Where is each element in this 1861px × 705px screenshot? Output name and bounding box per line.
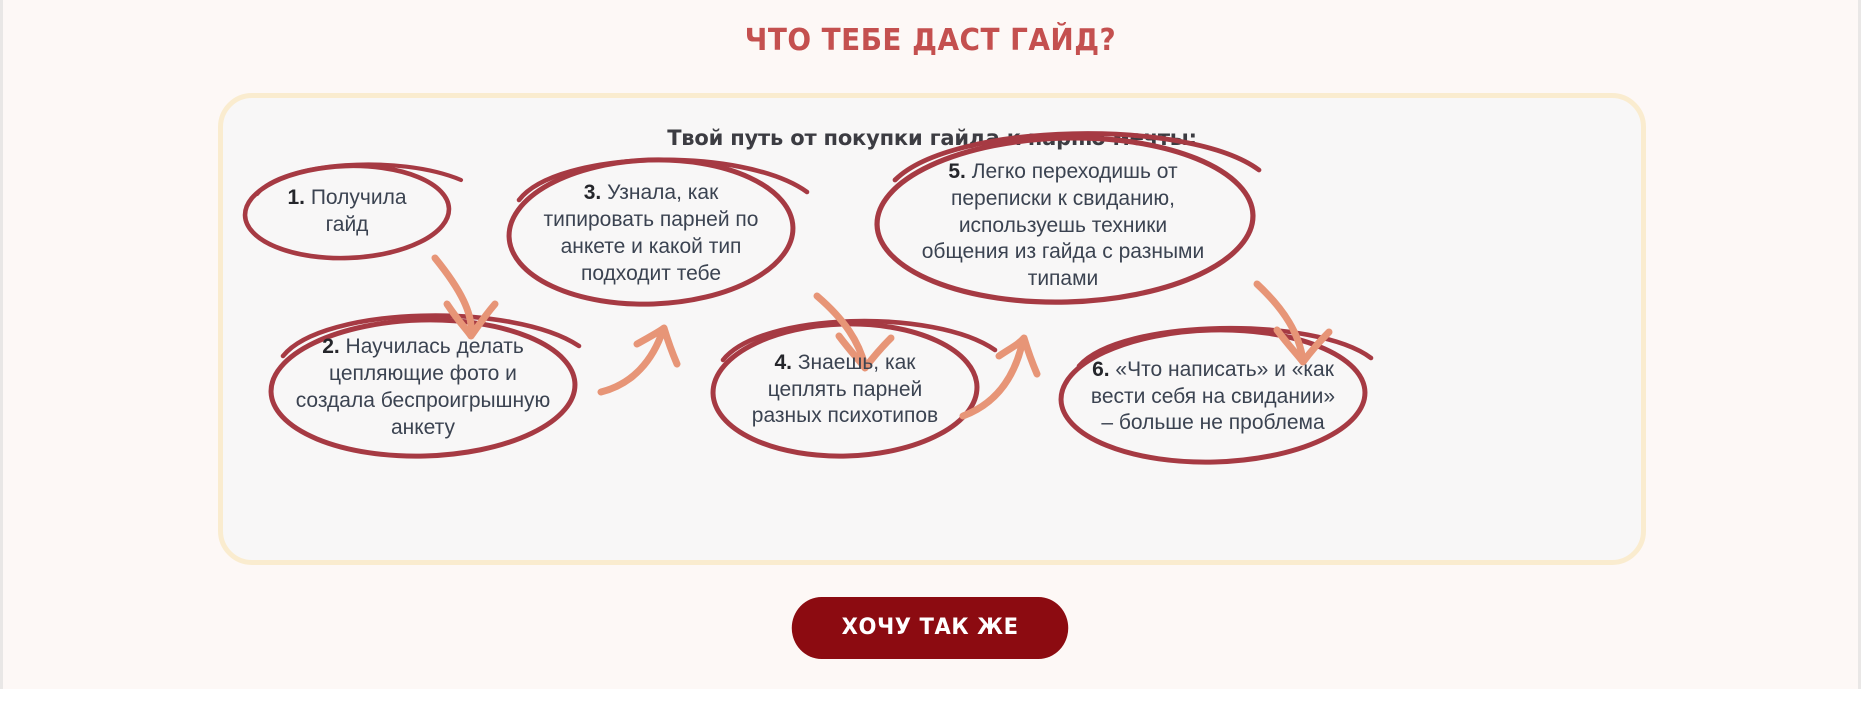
arrow-4-to-5 <box>963 338 1037 416</box>
step-label-3: 3. Узнала, как типировать парней по анке… <box>517 170 785 298</box>
journey-panel: Твой путь от покупки гайда к парню мечты… <box>218 93 1646 565</box>
step-line: подходит тебе <box>544 261 759 288</box>
step-label-5: 5. Легко переходишь от переписки к свида… <box>903 146 1223 306</box>
step-line: анкету <box>296 415 551 442</box>
step-line: – больше не проблема <box>1091 410 1335 437</box>
step-line: 1. Получила <box>287 185 406 212</box>
step-number: 3. <box>584 181 602 204</box>
step-line: 2. Научилась делать <box>296 334 551 361</box>
step-line: типами <box>922 266 1204 293</box>
step-line: общения из гайда с разными <box>922 239 1204 266</box>
step-line: гайд <box>287 212 406 239</box>
step-label-4: 4. Знаешь, как цеплять парней разных пси… <box>721 330 969 450</box>
step-line: переписки к свиданию, <box>922 186 1204 213</box>
step-line: вести себя на свидании» <box>1091 384 1335 411</box>
step-line: 3. Узнала, как <box>544 180 759 207</box>
step-line: разных психотипов <box>752 403 938 430</box>
step-label-6: 6. «Что написать» и «как вести себя на с… <box>1069 338 1357 456</box>
step-number: 2. <box>322 335 340 358</box>
step-line: цеплять парней <box>752 377 938 404</box>
step-number: 1. <box>287 186 305 209</box>
step-line: 4. Знаешь, как <box>752 350 938 377</box>
step-line: создала беспроигрышную <box>296 388 551 415</box>
step-line: цепляющие фото и <box>296 361 551 388</box>
step-number: 6. <box>1092 358 1110 381</box>
step-label-2: 2. Научилась делать цепляющие фото и соз… <box>273 328 573 448</box>
page-title: ЧТО ТЕБЕ ДАСТ ГАЙД? <box>65 23 1796 58</box>
cta-container: ХОЧУ ТАК ЖЕ <box>0 597 1861 659</box>
cta-button[interactable]: ХОЧУ ТАК ЖЕ <box>792 597 1069 659</box>
step-label-1: 1. Получила гайд <box>249 164 445 260</box>
step-number: 4. <box>775 351 793 374</box>
page-root: ЧТО ТЕБЕ ДАСТ ГАЙД? Твой путь от покупки… <box>0 0 1861 705</box>
step-line: типировать парней по <box>544 207 759 234</box>
arrow-2-to-3 <box>601 328 677 392</box>
step-number: 5. <box>948 160 966 183</box>
step-line: анкете и какой тип <box>544 234 759 261</box>
step-line: 6. «Что написать» и «как <box>1091 357 1335 384</box>
step-line: 5. Легко переходишь от <box>922 159 1204 186</box>
step-line: используешь техники <box>922 213 1204 240</box>
arrow-1-to-2 <box>435 258 495 336</box>
